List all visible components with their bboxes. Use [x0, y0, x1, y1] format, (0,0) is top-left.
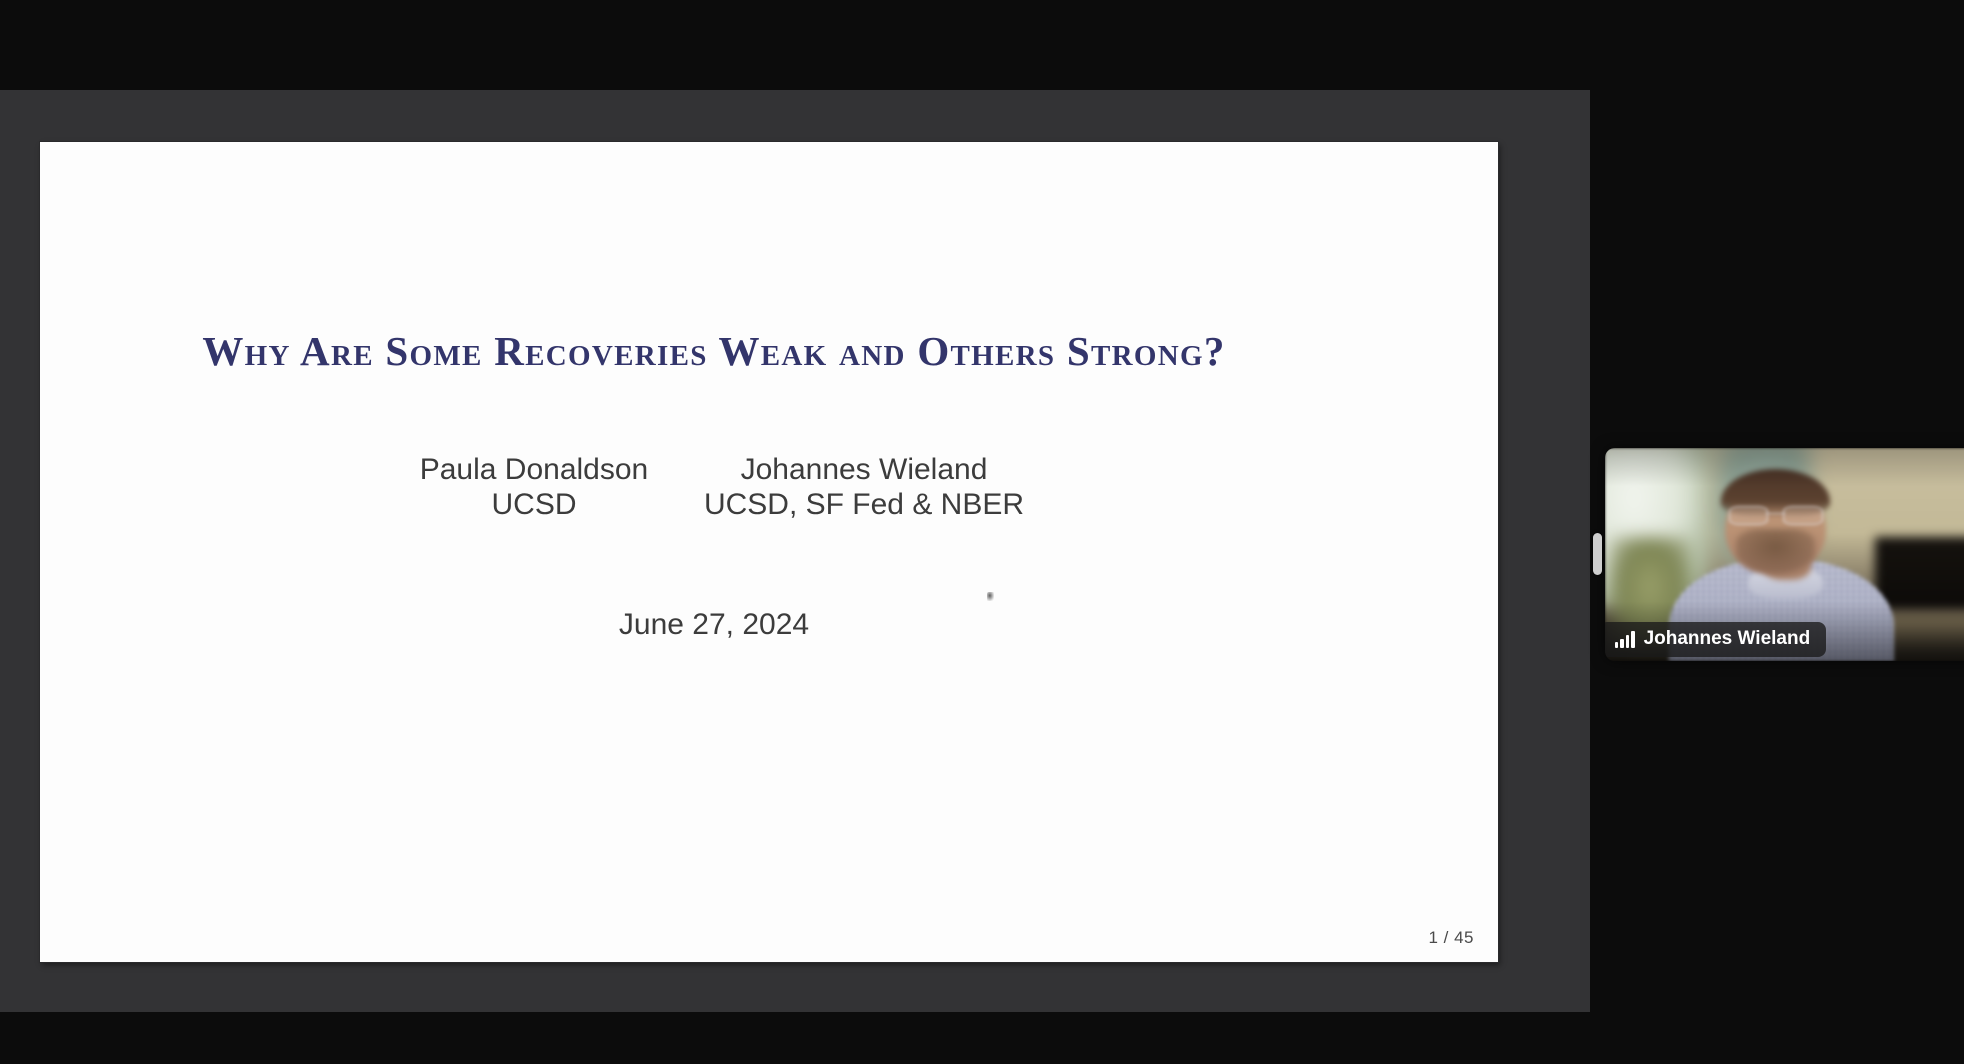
slide-page[interactable]: Why Are Some Recoveries Weak and Others …: [40, 142, 1498, 962]
signal-bars-icon: [1615, 631, 1635, 648]
author-name: Johannes Wieland: [684, 452, 1044, 487]
page-counter: 1 / 45: [1428, 928, 1474, 948]
participant-name-label: Johannes Wieland: [1644, 628, 1811, 650]
slide-authors: Paula Donaldson UCSD Johannes Wieland UC…: [40, 452, 1498, 522]
author-name: Paula Donaldson: [384, 452, 684, 487]
webcam-background-screen: [1875, 537, 1964, 609]
slide-date: June 27, 2024: [40, 608, 1498, 642]
participant-beard: [1736, 529, 1815, 574]
participant-name-badge: Johannes Wieland: [1605, 622, 1826, 657]
glasses-icon: [1729, 506, 1823, 523]
author-affiliation: UCSD: [384, 487, 684, 522]
pdf-viewer-panel[interactable]: Why Are Some Recoveries Weak and Others …: [0, 90, 1590, 1012]
top-letterbox-bar: [0, 0, 1964, 90]
author-block-1: Paula Donaldson UCSD: [384, 452, 684, 522]
slide-title: Why Are Some Recoveries Weak and Others …: [40, 327, 1498, 375]
author-affiliation: UCSD, SF Fed & NBER: [684, 487, 1044, 522]
cursor-pointer-artifact: [987, 592, 994, 601]
author-block-2: Johannes Wieland UCSD, SF Fed & NBER: [684, 452, 1044, 522]
screen-share-window: Why Are Some Recoveries Weak and Others …: [0, 0, 1964, 1064]
webcam-drag-handle[interactable]: [1593, 533, 1602, 575]
webcam-thumbnail[interactable]: Johannes Wieland: [1605, 448, 1964, 661]
